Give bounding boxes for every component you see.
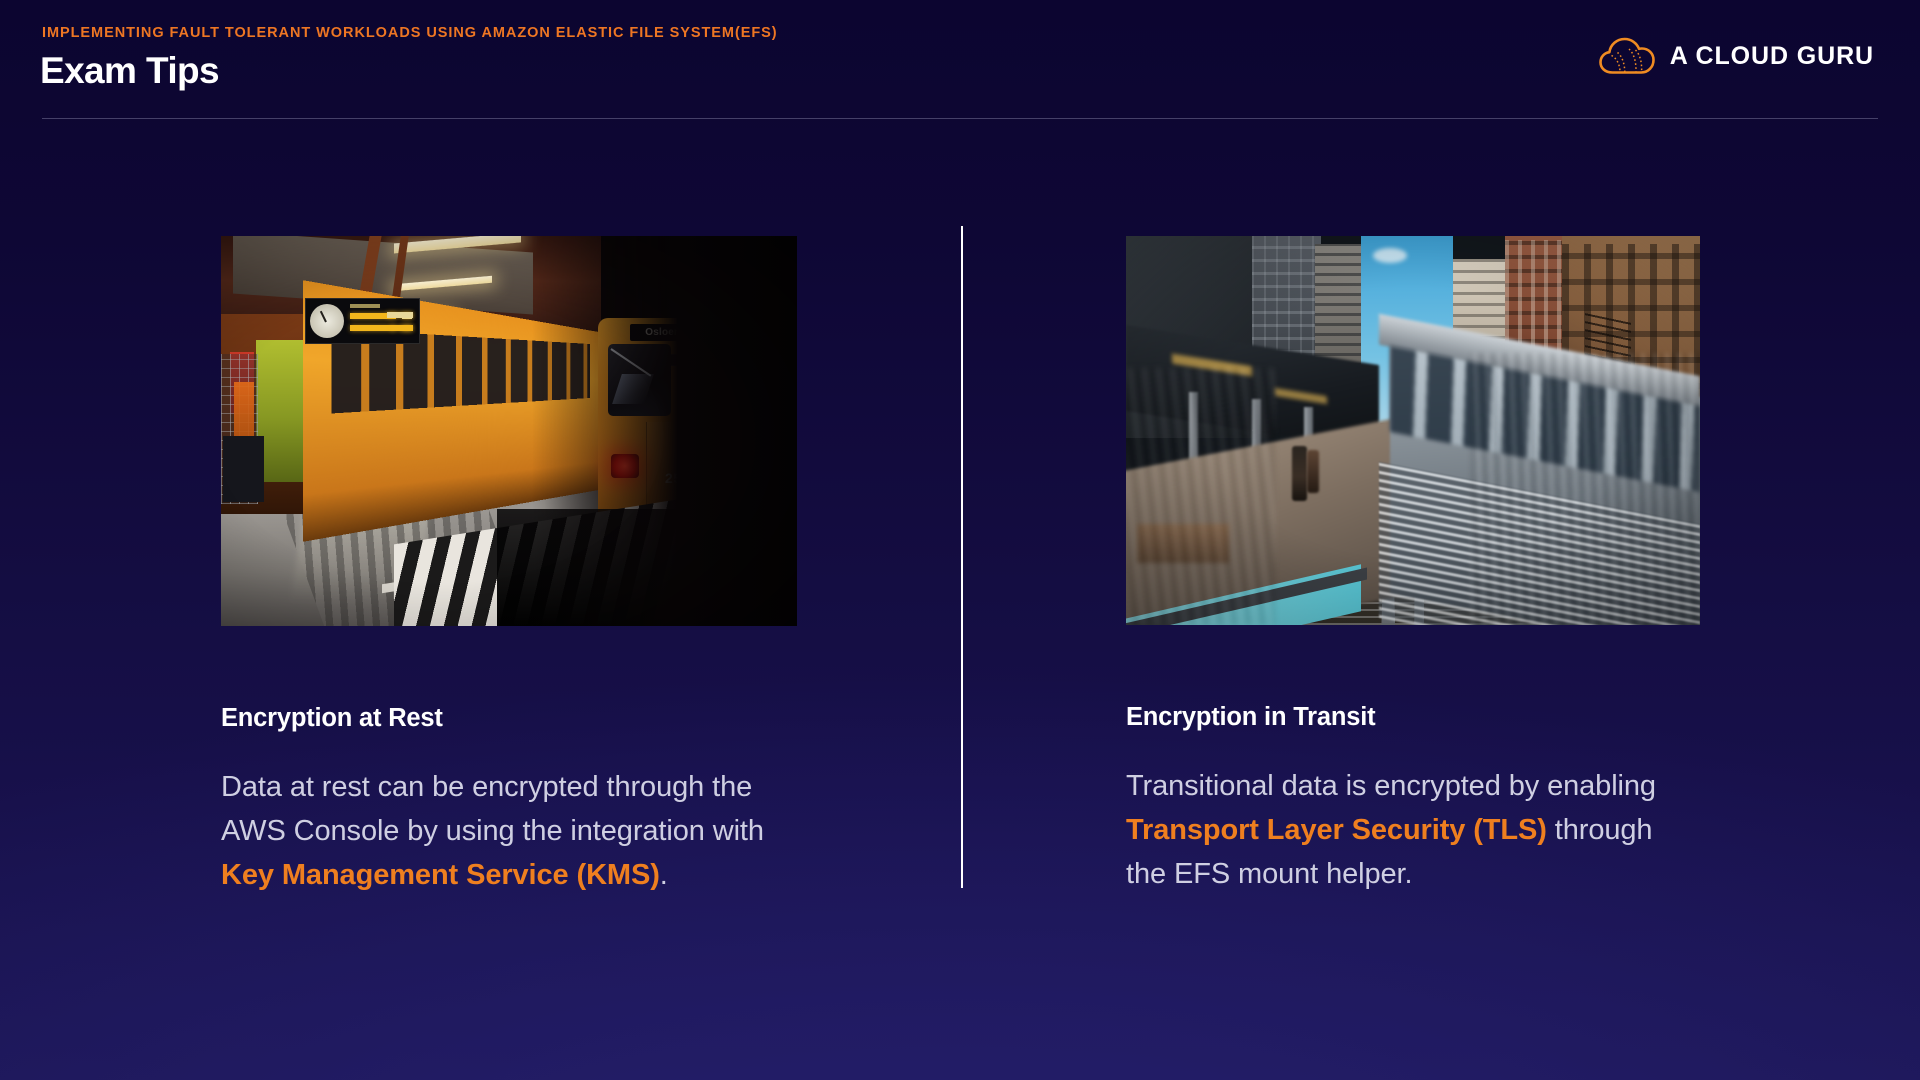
card-encryption-in-transit: Encryption in Transit Transitional data … xyxy=(1126,236,1700,896)
elevated-train-photo xyxy=(1126,236,1700,625)
subway-station-photo: Osloer Straße 2524 xyxy=(221,236,797,626)
card-heading-encryption-in-transit: Encryption in Transit xyxy=(1126,703,1700,732)
body-text-plain: Transitional data is encrypted by enabli… xyxy=(1126,770,1656,802)
card-heading-encryption-at-rest: Encryption at Rest xyxy=(221,704,797,733)
card-encryption-at-rest: Osloer Straße 2524 xyxy=(221,236,797,897)
body-text-tail: . xyxy=(660,859,668,891)
body-text-highlight: Transport Layer Security (TLS) xyxy=(1126,814,1547,846)
card-body-encryption-in-transit: Transitional data is encrypted by enabli… xyxy=(1126,764,1700,896)
content-area: Osloer Straße 2524 xyxy=(0,0,1920,1080)
body-text-highlight: Key Management Service (KMS) xyxy=(221,859,660,891)
card-body-encryption-at-rest: Data at rest can be encrypted through th… xyxy=(221,765,797,897)
body-text-plain: Data at rest can be encrypted through th… xyxy=(221,771,764,847)
column-divider xyxy=(961,226,963,888)
